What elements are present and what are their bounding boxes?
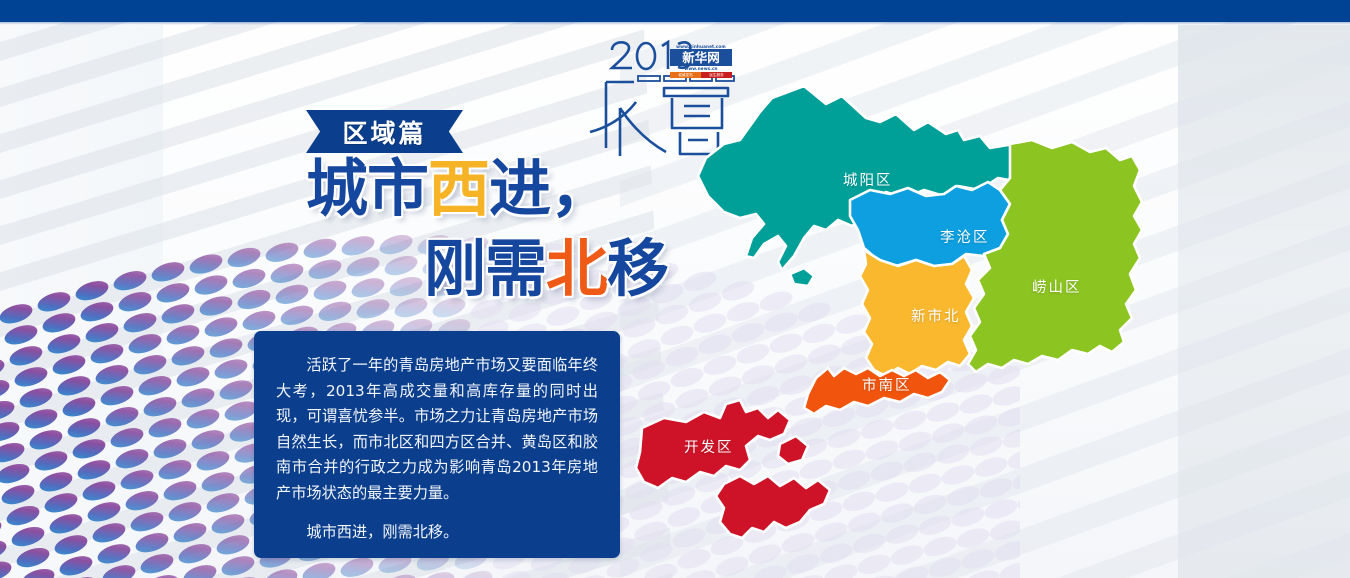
qingdao-district-map: 城阳区 李沧区 崂山区 新市北 市南区 开发区: [628, 78, 1188, 548]
headline-line-1-part-c: 进，: [489, 152, 611, 225]
map-label-xinshibei: 新市北: [911, 305, 961, 326]
top-bar-shadow: [0, 22, 1350, 25]
section-ribbon: 区域篇: [306, 110, 463, 153]
map-label-shinan: 市南区: [862, 374, 912, 395]
headline-line-1: 城市西进，: [306, 158, 611, 220]
headline-line-2-part-a: 刚需: [424, 232, 546, 305]
map-region-kaifaqu-peninsula: [716, 476, 830, 538]
map-label-kaifaqu: 开发区: [684, 436, 734, 457]
headline-line-1-part-b: 西: [428, 152, 489, 225]
map-label-chengyang: 城阳区: [843, 169, 893, 190]
intro-text-panel: 活跃了一年的青岛房地产市场又要面临年终大考，2013年高成交量和高库存量的同时出…: [254, 331, 620, 558]
headline-line-2-part-b: 北: [546, 232, 607, 305]
intro-paragraph: 活跃了一年的青岛房地产市场又要面临年终大考，2013年高成交量和高库存量的同时出…: [276, 353, 598, 506]
poster-canvas: 区域篇 城市西进， 刚需北移: [0, 0, 1350, 578]
map-label-licang: 李沧区: [940, 226, 990, 247]
xinhua-name: 新华网: [670, 49, 732, 66]
background-right-panel: [1178, 25, 1350, 578]
background-left-column: [0, 25, 163, 578]
map-region-kaifaqu-spur: [778, 436, 808, 464]
map-region-chengyang-tail: [790, 268, 814, 286]
headline-line-1-part-a: 城市: [306, 152, 428, 225]
top-blue-bar: [0, 0, 1350, 22]
xinhua-url-top: www.xinhuanet.com: [670, 44, 732, 49]
xinhua-url-bottom: www.news.cn: [670, 66, 732, 71]
xinhua-logo: www.xinhuanet.com 新华网 www.news.cn 权威发布 民…: [670, 44, 732, 80]
section-ribbon-label: 区域篇: [342, 114, 426, 150]
intro-tagline: 城市西进，刚需北移。: [276, 520, 598, 546]
map-label-laoshan: 崂山区: [1032, 276, 1082, 297]
